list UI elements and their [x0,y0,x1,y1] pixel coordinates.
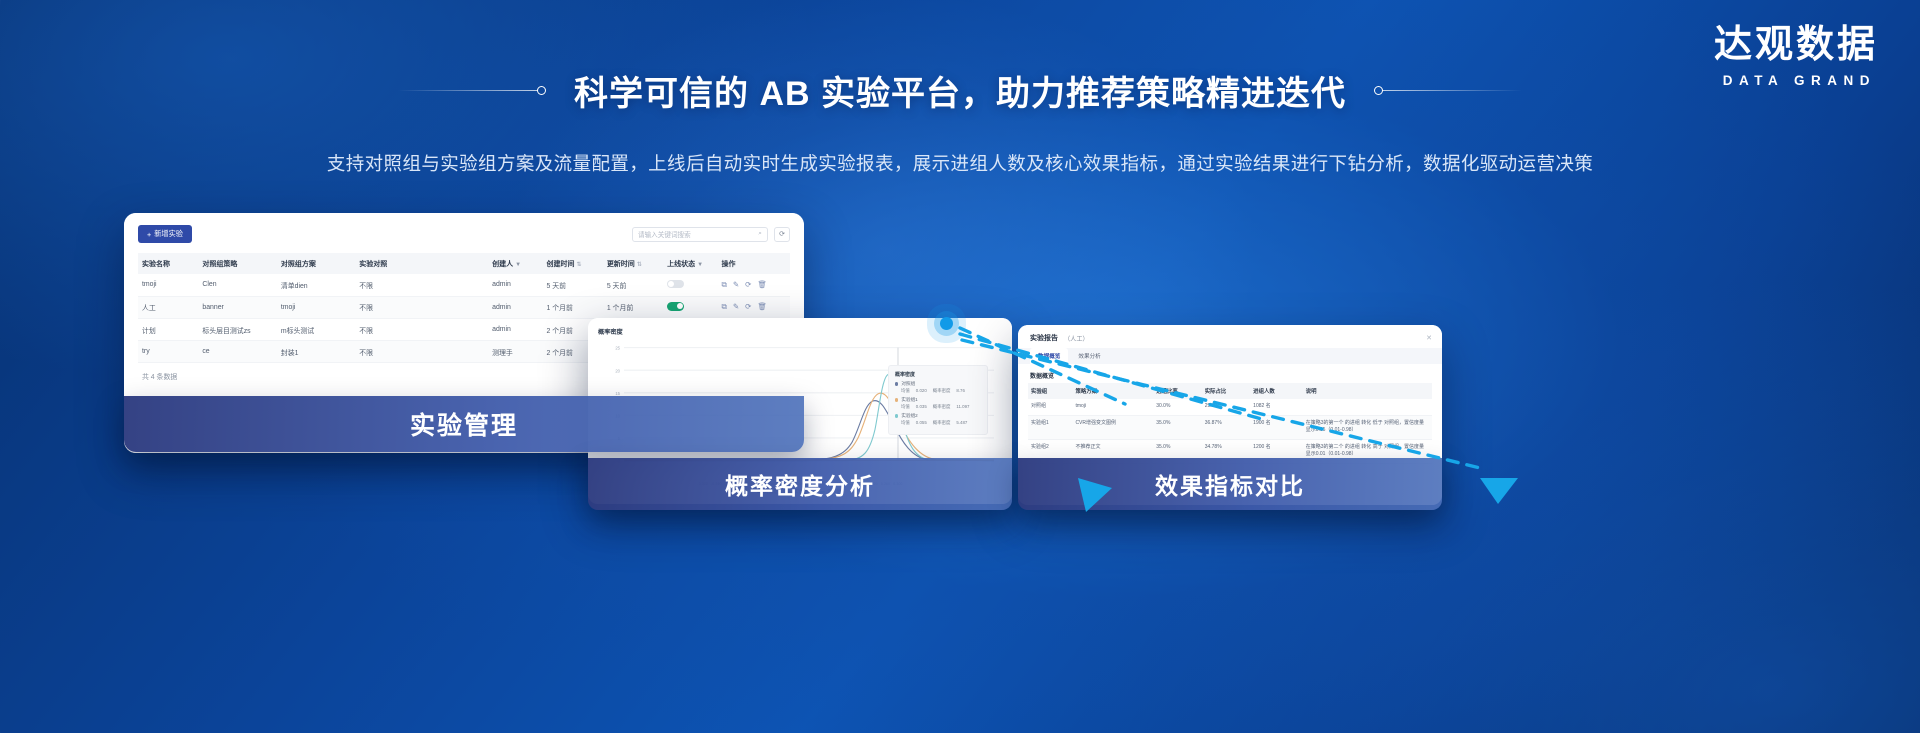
table-row[interactable]: 对照组 tmoji 30.0% 29.1% 1082 名 [1028,399,1432,415]
arrow-head-report [1480,478,1518,504]
report-subtitle: （人工） [1064,334,1089,343]
series-name: 对照组 [901,381,915,387]
stat-label: 均值 [901,404,910,410]
series-color-swatch [895,382,898,385]
cell-actual: 29.1% [1202,399,1250,415]
tab-effect-analysis[interactable]: 效果分析 [1070,348,1108,364]
edit-icon[interactable]: ✎ [733,302,739,312]
series-color-swatch [895,414,898,417]
extra-value: 5.487 [956,420,967,426]
tooltip-title: 概率密度 [895,371,981,378]
refresh-button[interactable]: ⟳ [774,227,790,242]
series-name: 实验组2 [901,413,917,419]
cell-actions[interactable]: ⧉ ✎ ⟳ 🗑 [718,296,791,319]
cell-creator: admin [488,296,542,319]
cell-ratio: 35.0% [1153,415,1201,439]
tab-data-overview[interactable]: 数据概览 [1030,348,1068,364]
filter-icon: ▼ [697,262,703,268]
report-tabs: 数据概览 效果分析 [1018,348,1442,364]
cursor-indicator [940,317,953,330]
cell-actual: 36.87% [1202,415,1250,439]
extra-label: 概率密度 [933,388,951,394]
sort-icon: ⇅ [576,262,581,268]
table-header-row: 实验名称 对照组策略 对照组方案 实验对照 创建人▼ 创建时间⇅ 更新时间⇅ 上… [138,253,790,274]
series-name: 实验组1 [901,397,917,403]
stat-value: 0.020 [916,388,927,394]
cell-users: 1900 名 [1250,415,1303,439]
edit-icon[interactable]: ✎ [733,280,739,290]
col-note: 说明 [1303,383,1432,399]
svg-text:20: 20 [615,368,620,373]
cell-online-toggle[interactable] [663,274,717,296]
tooltip-entry: 对照组 [895,381,981,387]
col-experiment-name: 实验名称 [138,253,198,274]
cards-stage: + 新增实验 请输入关键词搜索 ⌕ ⟳ [0,0,1920,733]
refresh-icon[interactable]: ⟳ [745,302,751,312]
col-control-plan: 对照组方案 [277,253,355,274]
svg-text:25: 25 [615,346,620,351]
col-group: 实验组 [1028,383,1072,399]
cell-created: 5 天前 [542,274,602,296]
col-created-time[interactable]: 创建时间⇅ [542,253,602,274]
cell-compare: 不限 [355,296,488,319]
cell-online-toggle[interactable] [663,296,717,319]
report-title: 实验报告 [1030,333,1058,343]
cell-ratio: 30.0% [1153,399,1201,415]
report-table: 实验组 策略方案 进组比率 实际占比 进组人数 说明 对照组 tmoji 30. [1028,383,1432,464]
col-experiment-compare: 实验对照 [355,253,488,274]
new-experiment-button[interactable]: + 新增实验 [138,225,192,243]
col-online-status[interactable]: 上线状态▼ [663,253,717,274]
col-ratio: 进组比率 [1153,383,1201,399]
card-label-experiment-management: 实验管理 [124,396,804,452]
chart-tooltip: 概率密度 对照组 均值 0.020 概率密度 8.76 [888,365,988,435]
experiment-toolbar-right: 请输入关键词搜索 ⌕ ⟳ [632,227,790,242]
tooltip-entry: 实验组2 [895,413,981,419]
cell-plan: CVR增强变文图例 [1072,415,1153,439]
experiment-toolbar: + 新增实验 请输入关键词搜索 ⌕ ⟳ [138,225,790,243]
cell-name: tmoji [138,274,198,296]
tooltip-entry-stats: 均值 0.020 概率密度 8.76 [901,388,981,394]
cell-updated: 5 天前 [603,274,663,296]
search-input[interactable]: 请输入关键词搜索 ⌕ [632,227,768,242]
cell-strategy: 标头层目测试zs [198,319,276,341]
cell-actions[interactable]: ⧉ ✎ ⟳ 🗑 [718,274,791,296]
table-row[interactable]: 实验组1 CVR增强变文图例 35.0% 36.87% 1900 名 在策略3的… [1028,415,1432,439]
filter-icon: ▼ [515,262,521,268]
cell-updated: 1 个月前 [603,296,663,319]
online-toggle[interactable] [667,302,684,311]
cell-name: try [138,341,198,363]
cell-strategy: ce [198,341,276,363]
cell-plan: tmoji [1072,399,1153,415]
refresh-icon[interactable]: ⟳ [745,280,751,290]
extra-value: 11.097 [956,404,969,410]
table-row[interactable]: 人工 banner tmoji 不限 admin 1 个月前 1 个月前 ⧉ [138,296,790,319]
cell-users: 1082 名 [1250,399,1303,415]
col-plan: 策略方案 [1072,383,1153,399]
col-actual: 实际占比 [1202,383,1250,399]
tooltip-entry-stats: 均值 0.055 概率密度 5.487 [901,420,981,426]
close-icon[interactable]: ✕ [1426,334,1432,342]
table-header-row: 实验组 策略方案 进组比率 实际占比 进组人数 说明 [1028,383,1432,399]
cell-plan: m标头测试 [277,319,355,341]
cell-plan: 清单dien [277,274,355,296]
copy-icon[interactable]: ⧉ [722,302,727,312]
cell-group: 实验组1 [1028,415,1072,439]
new-experiment-label: 新增实验 [154,229,183,239]
copy-icon[interactable]: ⧉ [722,280,727,290]
cell-group: 对照组 [1028,399,1072,415]
col-actions: 操作 [718,253,791,274]
col-users: 进组人数 [1250,383,1303,399]
refresh-icon: ⟳ [779,230,785,238]
cell-name: 人工 [138,296,198,319]
cell-plan: tmoji [277,296,355,319]
card-label-metric-comparison: 效果指标对比 [1018,458,1442,510]
cell-compare: 不限 [355,274,488,296]
cell-compare: 不限 [355,319,488,341]
delete-icon[interactable]: 🗑 [757,280,767,290]
extra-value: 8.76 [956,388,965,394]
cell-plan: 封装1 [277,341,355,363]
cell-created: 1 个月前 [542,296,602,319]
stat-value: 0.055 [916,420,927,426]
tooltip-entry-stats: 均值 0.035 概率密度 11.097 [901,404,981,410]
cell-strategy: Clen [198,274,276,296]
report-header: 实验报告 （人工） ✕ [1018,325,1442,348]
sort-icon: ⇅ [637,262,642,268]
plus-icon: + [147,230,151,239]
col-creator[interactable]: 创建人▼ [488,253,542,274]
online-toggle[interactable] [667,280,684,289]
cell-creator: 测理手 [488,341,542,363]
report-section-title: 数据概览 [1018,364,1442,383]
extra-label: 概率密度 [933,420,951,426]
tooltip-entry: 实验组1 [895,397,981,403]
table-row[interactable]: tmoji Clen 清单dien 不限 admin 5 天前 5 天前 ⧉ [138,274,790,296]
cell-strategy: banner [198,296,276,319]
cell-name: 计划 [138,319,198,341]
cell-note: 在策略3的第一个 的进组 转化 低于 对照组，置信度量 显示0.05（0.01-… [1303,415,1432,439]
cell-note [1303,399,1432,415]
stat-value: 0.035 [916,404,927,410]
stat-label: 均值 [901,388,910,394]
search-placeholder: 请输入关键词搜索 [638,229,691,239]
extra-label: 概率密度 [933,404,951,410]
col-control-strategy: 对照组策略 [198,253,276,274]
stat-label: 均值 [901,420,910,426]
series-color-swatch [895,398,898,401]
search-icon: ⌕ [758,230,762,238]
cell-compare: 不限 [355,341,488,363]
cell-creator: admin [488,274,542,296]
card-label-probability-density: 概率密度分析 [588,458,1012,510]
delete-icon[interactable]: 🗑 [757,302,767,312]
cell-creator: admin [488,319,542,341]
col-updated-time[interactable]: 更新时间⇅ [603,253,663,274]
